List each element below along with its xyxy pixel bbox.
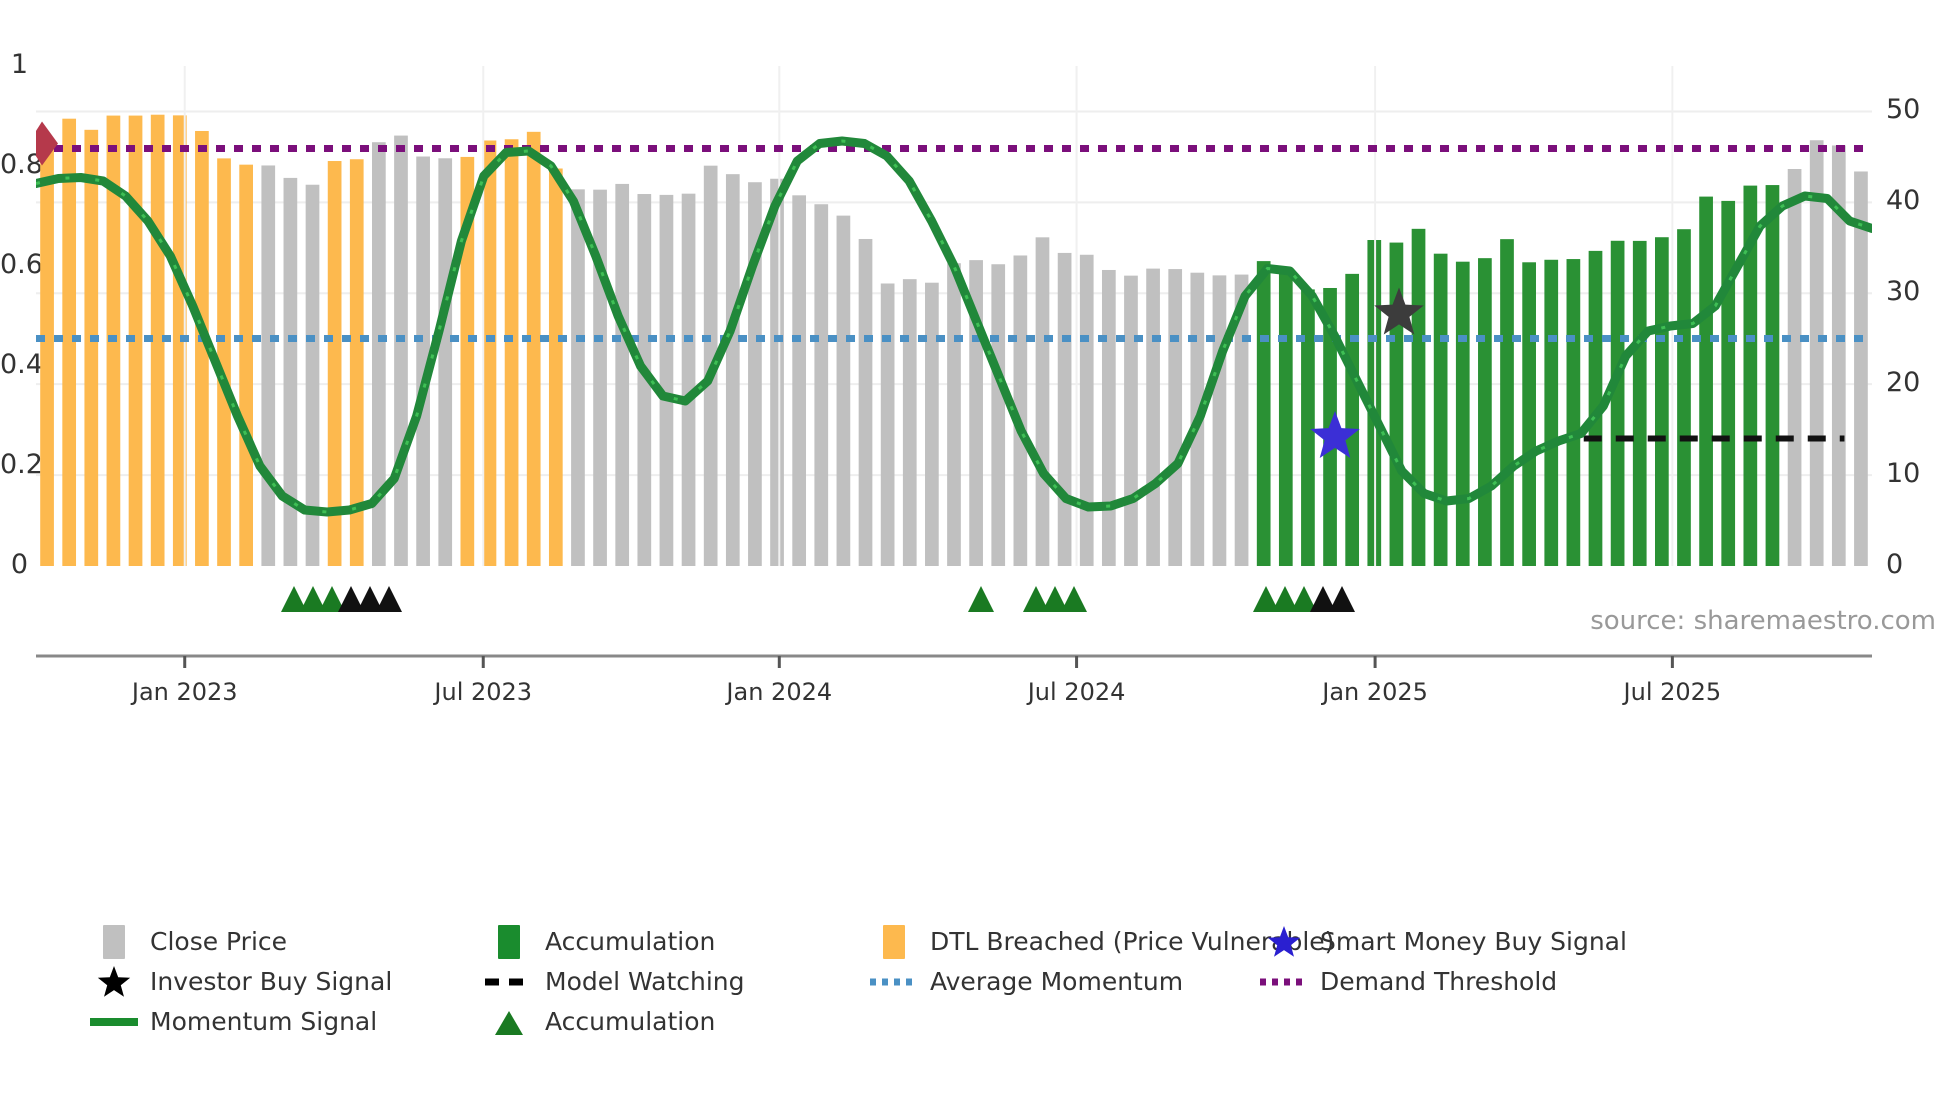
legend-label: Smart Money Buy Signal (1312, 927, 1627, 956)
dtl-breached-swatch (866, 925, 922, 959)
price-bar (1500, 239, 1514, 566)
price-bar (1279, 274, 1293, 566)
chart-canvas (36, 66, 1872, 566)
price-bar (1080, 255, 1094, 566)
price-bar (1810, 140, 1824, 566)
legend-item-close-price[interactable]: Close Price (86, 925, 481, 959)
price-bar (1390, 243, 1404, 566)
price-bar (328, 161, 342, 566)
legend-label: Momentum Signal (142, 1007, 377, 1036)
accumulation-triangle-marker (1061, 586, 1087, 612)
price-bar (1345, 274, 1359, 566)
legend-label: Accumulation (537, 1007, 715, 1036)
price-bar (505, 139, 519, 566)
price-bar (947, 263, 961, 566)
price-bar (40, 143, 54, 566)
y-tick-label-left: 1 (0, 49, 28, 80)
price-bar (1633, 241, 1647, 566)
accumulation-triangle-marker (968, 586, 994, 612)
price-bar (1766, 185, 1780, 566)
price-bar (903, 279, 917, 566)
price-bar (62, 119, 76, 566)
legend-label: Accumulation (537, 927, 715, 956)
price-bar (1655, 237, 1669, 566)
smart-money-buy-symbol (1256, 922, 1312, 962)
price-bar (438, 158, 452, 566)
price-bar (726, 174, 740, 566)
price-bar (1699, 197, 1713, 566)
price-bar (1124, 276, 1138, 566)
price-bar (881, 283, 895, 566)
price-bar (1567, 259, 1581, 566)
price-bar (483, 141, 497, 567)
plot-area (36, 66, 1872, 566)
price-bar (84, 130, 98, 566)
y-tick-label-right: 30 (1886, 276, 1920, 307)
dtl-breached-swatch-icon (883, 925, 905, 959)
chart-legend: Close PriceAccumulationDTL Breached (Pri… (86, 926, 1946, 1046)
momentum-signal-symbol (86, 1015, 142, 1029)
legend-item-model-watching[interactable]: Model Watching (481, 967, 866, 996)
y-tick-label-left: 0.4 (0, 349, 28, 380)
y-tick-label-right: 10 (1886, 458, 1920, 489)
price-bar (1213, 275, 1227, 566)
dotted-line-icon (868, 975, 920, 989)
price-bar (527, 132, 541, 566)
legend-label: Demand Threshold (1312, 967, 1557, 996)
dashed-line-icon (483, 975, 535, 989)
price-bar (571, 189, 585, 566)
legend-item-accumulation-triangle[interactable]: Accumulation (481, 1005, 866, 1039)
price-bar (1544, 260, 1558, 566)
legend-item-investor-buy[interactable]: Investor Buy Signal (86, 962, 481, 1002)
legend-item-demand-threshold[interactable]: Demand Threshold (1256, 967, 1557, 996)
average-momentum-symbol (866, 975, 922, 989)
legend-label: Average Momentum (922, 967, 1183, 996)
demand-threshold-symbol (1256, 975, 1312, 989)
legend-item-dtl-breached[interactable]: DTL Breached (Price Vulnerable) (866, 925, 1256, 959)
price-bar (1168, 269, 1182, 566)
accumulation-bar-swatch (481, 925, 537, 959)
price-bar (925, 283, 939, 566)
accumulation-triangle-symbol (481, 1005, 537, 1039)
legend-label: Model Watching (537, 967, 745, 996)
price-bar (792, 195, 806, 566)
price-bar (1146, 269, 1160, 566)
price-bar (1478, 258, 1492, 566)
price-bar (1036, 237, 1050, 566)
price-bar (615, 184, 629, 566)
legend-row: Investor Buy SignalModel WatchingAverage… (86, 966, 1946, 997)
price-bar (394, 136, 408, 566)
source-label: source: sharemaestro.com (1590, 606, 1936, 636)
accumulation-triangle-marker (376, 586, 402, 612)
y-tick-label-left: 0.2 (0, 449, 28, 480)
price-bar (682, 194, 696, 566)
price-bar (1456, 262, 1470, 566)
price-bar (239, 165, 253, 566)
legend-item-average-momentum[interactable]: Average Momentum (866, 967, 1256, 996)
price-bar (1522, 262, 1536, 566)
price-bar (1677, 229, 1691, 566)
legend-label: Investor Buy Signal (142, 967, 392, 996)
price-bar (814, 204, 828, 566)
price-bar (1301, 289, 1315, 566)
legend-item-momentum-signal[interactable]: Momentum Signal (86, 1007, 481, 1036)
solid-line-icon (88, 1015, 140, 1029)
price-bar (1058, 253, 1072, 566)
chart-root: 00.20.40.60.81 01020304050 Jan 2023Jul 2… (0, 0, 1960, 1102)
y-tick-label-left: 0.6 (0, 249, 28, 280)
price-bar (1721, 201, 1735, 566)
legend-item-smart-money-buy[interactable]: Smart Money Buy Signal (1256, 922, 1627, 962)
y-tick-label-right: 40 (1886, 185, 1920, 216)
legend-row: Momentum SignalAccumulation (86, 1006, 1946, 1037)
accumulation-bar-swatch-icon (498, 925, 520, 959)
accumulation-marker-band (0, 566, 1960, 796)
close-price-swatch-icon (103, 925, 125, 959)
star-icon (94, 962, 134, 1002)
dotted-line-icon (1258, 975, 1310, 989)
star-icon (1264, 922, 1304, 962)
price-bar (770, 179, 784, 566)
model-watching-symbol (481, 975, 537, 989)
legend-label: Close Price (142, 927, 287, 956)
triangle-icon (489, 1005, 529, 1039)
y-tick-label-left: 0.8 (0, 149, 28, 180)
investor-buy-symbol (86, 962, 142, 1002)
y-tick-label-right: 20 (1886, 367, 1920, 398)
price-bar (261, 165, 275, 566)
price-bar (1434, 254, 1448, 566)
legend-row: Close PriceAccumulationDTL Breached (Pri… (86, 926, 1946, 957)
y-tick-label-right: 50 (1886, 94, 1920, 125)
price-bar (1257, 261, 1271, 566)
price-bar (1412, 229, 1426, 566)
legend-item-accumulation-bar[interactable]: Accumulation (481, 925, 866, 959)
price-bar (1788, 169, 1802, 566)
close-price-swatch (86, 925, 142, 959)
price-bar (991, 264, 1005, 566)
price-bar (549, 169, 563, 566)
price-bar (837, 216, 851, 566)
price-bar (660, 195, 674, 566)
price-bar (859, 239, 873, 566)
accumulation-triangle-marker (1329, 586, 1355, 612)
price-bar (1611, 241, 1625, 566)
price-bar (1102, 270, 1116, 566)
